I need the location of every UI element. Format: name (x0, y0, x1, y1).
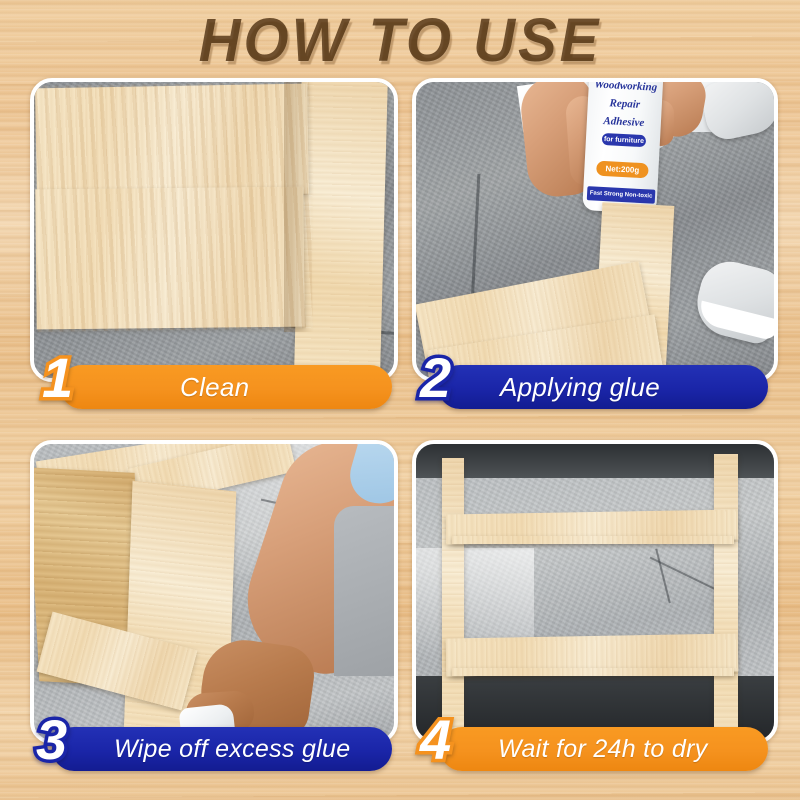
step-number-2: 2 (420, 350, 451, 406)
step-photo-4 (412, 440, 778, 744)
bottle-footer-text: Fast Strong Non-toxic (587, 186, 656, 204)
bottle-subtitle-badge: for furniture (602, 133, 647, 147)
bottle-brand-line2: Repair (588, 96, 663, 112)
step-photo-3 (30, 440, 398, 744)
shelf-upright-right (714, 454, 738, 740)
infographic-root: HOW TO USE (0, 0, 800, 800)
step-label-1: Clean (180, 372, 249, 403)
clothing (334, 506, 394, 676)
bottle-brand-line3: Adhesive (587, 114, 662, 130)
photo-finished-shelf (416, 444, 774, 740)
photo-clean (34, 82, 394, 378)
step-banner-1[interactable]: Clean (60, 365, 392, 409)
glue-bottle: Woodworking Repair Adhesive for furnitur… (582, 82, 664, 214)
bottle-net-weight: Net:200g (596, 161, 649, 179)
step-photo-2: Woodworking Repair Adhesive for furnitur… (412, 78, 778, 382)
board-edge-shadow (284, 82, 314, 332)
step-label-4: Wait for 24h to dry (498, 735, 708, 764)
step-number-3: 3 (36, 712, 67, 768)
step-number-1: 1 (42, 350, 73, 406)
step-photo-1 (30, 78, 398, 382)
step-banner-4[interactable]: Wait for 24h to dry (440, 727, 768, 771)
step-banner-3[interactable]: Wipe off excess glue (52, 727, 392, 771)
step-label-2: Applying glue (500, 372, 660, 403)
step-number-4: 4 (420, 712, 451, 768)
page-title: HOW TO USE (199, 4, 602, 75)
bottle-brand-line1: Woodworking (589, 82, 664, 94)
photo-wipe-glue (34, 444, 394, 740)
page-title-container: HOW TO USE (0, 4, 800, 76)
step-label-3: Wipe off excess glue (114, 735, 350, 764)
shelf-board-top-edge (452, 536, 734, 544)
step-banner-2[interactable]: Applying glue (438, 365, 768, 409)
photo-applying-glue: Woodworking Repair Adhesive for furnitur… (416, 82, 774, 378)
shelf-upright-left (442, 458, 464, 738)
shelf-board-bottom-edge (452, 668, 734, 676)
wood-grain-overlay (34, 82, 312, 332)
